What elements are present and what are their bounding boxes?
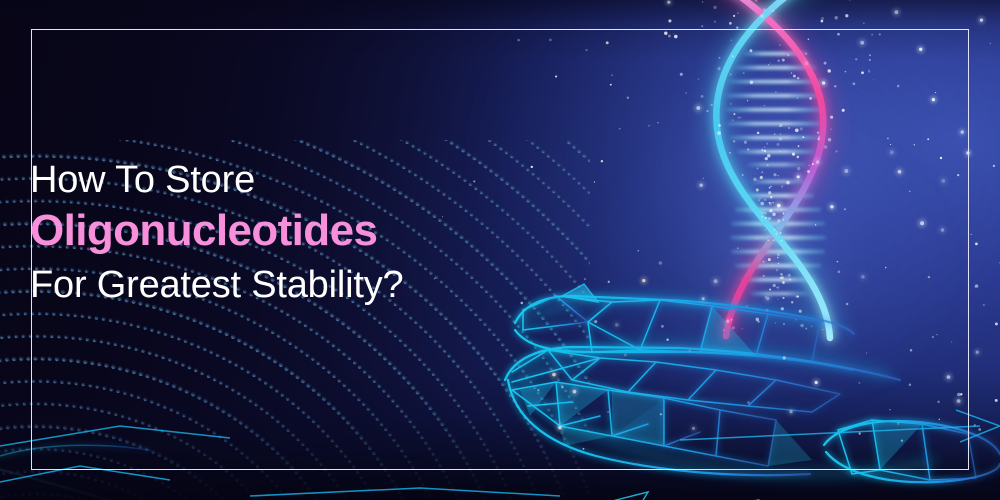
headline-block: How To Store Oligonucleotides For Greate…	[30, 158, 590, 308]
hero-banner: How To Store Oligonucleotides For Greate…	[0, 0, 1000, 500]
headline-line-2-accent: Oligonucleotides	[30, 204, 590, 258]
headline-line-1: How To Store	[30, 158, 590, 202]
headline-line-3: For Greatest Stability?	[30, 262, 590, 308]
